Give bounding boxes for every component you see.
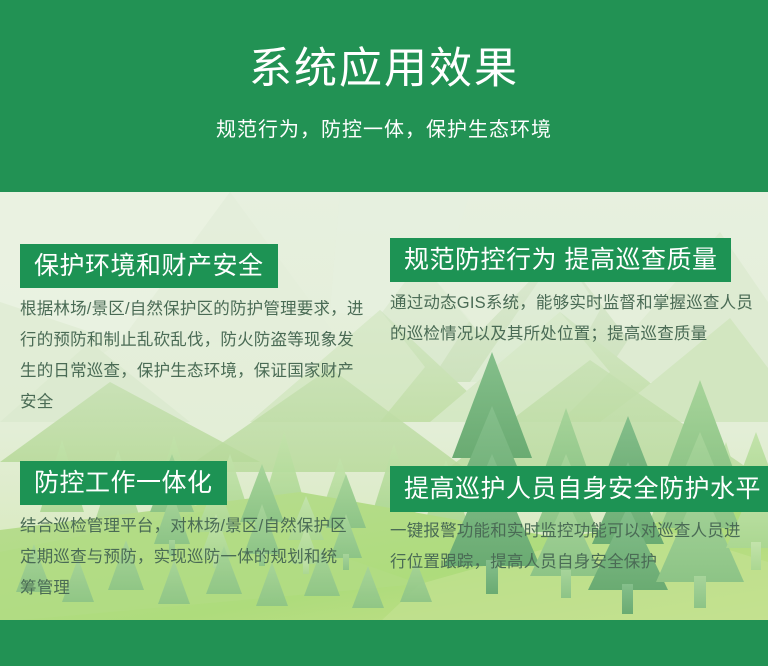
panel-heading-banner: 保护环境和财产安全 [20,244,278,288]
page-header: 系统应用效果 规范行为，防控一体，保护生态环境 [0,0,768,192]
panel-protect-environment-and-property-safety: 保护环境和财产安全 根据林场/景区/自然保护区的防护管理要求，进行的预防和制止乱… [20,244,372,418]
panel-heading-banner: 防控工作一体化 [20,461,227,505]
panel-body-text: 通过动态GIS系统，能够实时监督和掌握巡查人员的巡检情况以及其所处位置；提高巡查… [390,288,754,350]
panel-body-text: 根据林场/景区/自然保护区的防护管理要求，进行的预防和制止乱砍乱伐，防火防盗等现… [20,294,370,418]
footer-bar [0,620,768,666]
panel-standardize-prevention-improve-inspection-quality: 规范防控行为 提高巡查质量 通过动态GIS系统，能够实时监督和掌握巡查人员的巡检… [390,238,755,350]
panel-body-text: 一键报警功能和实时监控功能可以对巡查人员进行位置跟踪，提高人员自身安全保护 [390,516,752,578]
panel-heading-banner: 规范防控行为 提高巡查质量 [390,238,731,282]
panel-improve-patrol-personnel-safety-protection: 提高巡护人员自身安全防护水平 一键报警功能和实时监控功能可以对巡查人员进行位置跟… [390,466,755,578]
marketing-page: 系统应用效果 规范行为，防控一体，保护生态环境 [0,0,768,666]
panel-body-text: 结合巡检管理平台，对林场/景区/自然保护区定期巡查与预防，实现巡防一体的规划和统… [20,511,350,604]
page-subtitle: 规范行为，防控一体，保护生态环境 [0,116,768,144]
content-area: 保护环境和财产安全 根据林场/景区/自然保护区的防护管理要求，进行的预防和制止乱… [0,192,768,622]
page-title: 系统应用效果 [0,44,768,94]
panel-heading-banner: 提高巡护人员自身安全防护水平 [390,466,768,512]
panel-integrated-prevention-work: 防控工作一体化 结合巡检管理平台，对林场/景区/自然保护区定期巡查与预防，实现巡… [20,461,360,604]
